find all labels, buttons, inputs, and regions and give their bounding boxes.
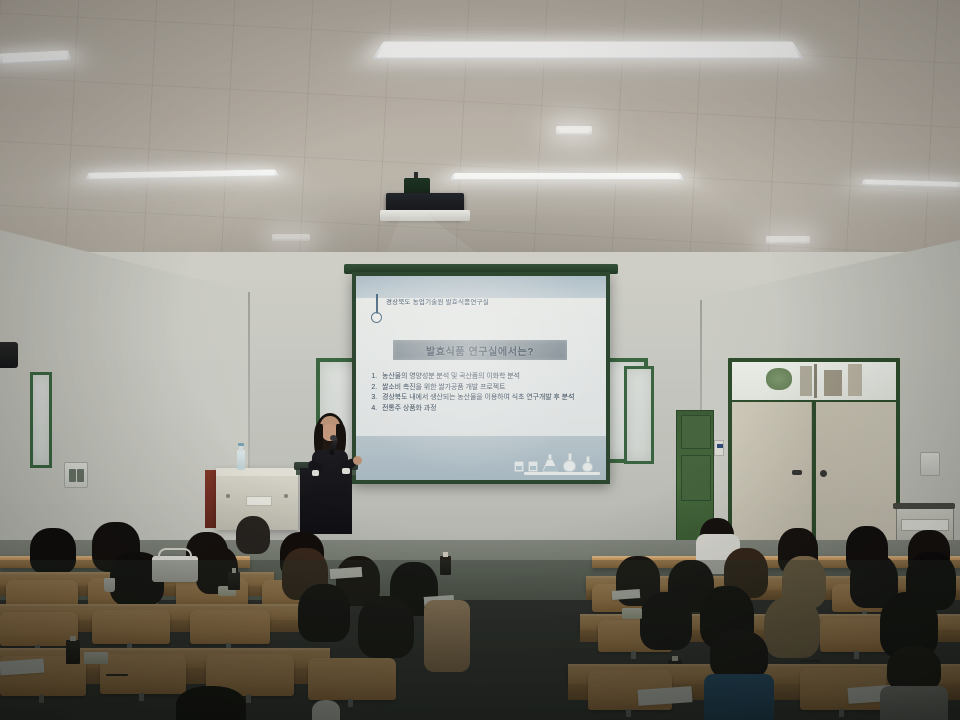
microphone-head [330, 435, 337, 441]
beverage-carton [66, 640, 80, 664]
window-view [732, 362, 896, 400]
student-head [298, 584, 350, 642]
wall-speaker [0, 342, 18, 368]
light-switch-toggle[interactable] [69, 469, 76, 482]
student [312, 700, 340, 720]
student-head [176, 686, 246, 720]
student-head [312, 700, 340, 720]
ceiling-shading [0, 0, 960, 270]
slide-title: 발효식품 연구실에서는? [426, 343, 534, 358]
round-flask-icon [562, 453, 577, 472]
student [358, 596, 414, 658]
door-handle[interactable] [792, 470, 802, 475]
fluorescent-light-fixture [372, 42, 803, 59]
list-item: 1. 농산물의 영양성분 분석 및 곡산품의 이화학 분석 [368, 372, 598, 383]
student-head [358, 596, 414, 658]
student [704, 630, 774, 720]
pen [106, 674, 128, 676]
lamp-post [814, 364, 817, 398]
projector-base-plate [380, 210, 470, 221]
fluorescent-light-fixture [556, 126, 592, 135]
building-silhouette [800, 366, 812, 396]
ceiling [0, 0, 960, 270]
light-switch-toggle[interactable] [77, 469, 84, 482]
cabinet-top [216, 468, 298, 476]
slide-top-band [356, 276, 606, 298]
list-item: 3. 경상북도 내에서 생산되는 농산물을 이용하여 식초 연구개발 후 분석 [368, 393, 598, 404]
cabinet-label [246, 496, 272, 506]
cup [104, 578, 115, 592]
cart-handle [893, 503, 955, 509]
list-item-number: 1. [368, 372, 377, 383]
partition-pane [681, 455, 711, 501]
erlenmeyer-flask-icon [542, 454, 558, 472]
beaker-icon [528, 461, 538, 472]
tree-silhouette [766, 368, 792, 390]
partition-pane [681, 415, 711, 449]
student-head [30, 528, 76, 574]
beverage-carton [440, 556, 451, 575]
list-item: 2. 쌀소비 촉진을 위한 쌀가공품 개발 프로젝트 [368, 383, 598, 394]
student-head [236, 516, 270, 554]
snack-pack [84, 652, 108, 664]
student-body [704, 674, 774, 720]
presenter-shirt-cuff [342, 468, 350, 474]
list-item-number: 2. [368, 383, 377, 394]
transom-window [732, 362, 896, 400]
student [424, 600, 470, 672]
student-head [640, 592, 692, 650]
chair[interactable] [92, 610, 170, 644]
presentation-slide: 경상북도 농업기술원 발효식품연구실 발효식품 연구실에서는? 1. 농산물의 … [356, 276, 606, 480]
slide-header-dot-icon [371, 312, 382, 323]
paper-handout [612, 589, 641, 600]
handbag [152, 556, 198, 582]
chair[interactable] [308, 658, 396, 700]
whiteboard [30, 372, 52, 468]
student-body [424, 600, 470, 672]
double-door[interactable] [728, 358, 900, 554]
list-item-text: 경상북도 내에서 생산되는 농산물을 이용하여 식초 연구개발 후 분석 [382, 393, 574, 404]
cabinet-knob[interactable] [226, 494, 230, 498]
list-item-text: 농산물의 영양성분 분석 및 곡산품의 이화학 분석 [382, 372, 520, 383]
snack-pack [622, 608, 642, 619]
slide-bullet-list: 1. 농산물의 영양성분 분석 및 곡산품의 이화학 분석 2. 쌀소비 촉진을… [368, 372, 598, 414]
fluorescent-light-fixture [766, 236, 810, 244]
round-flask-icon [581, 456, 594, 472]
student [236, 516, 270, 554]
building-silhouette [824, 370, 842, 396]
list-item: 4. 전통주 상품화 과정 [368, 404, 598, 415]
projection-screen: 경상북도 농업기술원 발효식품연구실 발효식품 연구실에서는? 1. 농산물의 … [352, 272, 610, 484]
list-item-number: 3. [368, 393, 377, 404]
fluorescent-light-fixture [450, 173, 684, 180]
student [30, 528, 76, 574]
lecture-hall-photo: 경상북도 농업기술원 발효식품연구실 발효식품 연구실에서는? 1. 농산물의 … [0, 0, 960, 720]
card-reader[interactable] [714, 440, 724, 456]
fluorescent-light-fixture [272, 234, 310, 241]
student-head [710, 630, 768, 680]
slide-title-box: 발효식품 연구실에서는? [393, 340, 567, 360]
light-switch-panel[interactable] [64, 462, 88, 488]
student [298, 584, 350, 642]
student [880, 646, 948, 720]
presenter-hand [353, 456, 362, 465]
chair[interactable] [190, 610, 270, 644]
presenter-shirt-cuff [312, 470, 319, 476]
pen [800, 660, 820, 662]
list-item-text: 쌀소비 촉진을 위한 쌀가공품 개발 프로젝트 [382, 383, 505, 394]
beaker-icon [514, 461, 524, 472]
student [176, 686, 246, 720]
cabinet-knob[interactable] [284, 494, 288, 498]
presenter [300, 416, 362, 534]
student [640, 592, 692, 650]
whiteboard [624, 366, 654, 464]
student-body [880, 686, 948, 720]
list-item-number: 4. [368, 404, 377, 415]
glassware-shelf [524, 472, 600, 475]
water-bottle [237, 450, 245, 470]
slide-header-text: 경상북도 농업기술원 발효식품연구실 [386, 296, 489, 306]
laboratory-glassware-icon [514, 453, 594, 472]
paper-handout [638, 686, 693, 706]
slide-header-line [376, 294, 378, 314]
wall-outlet [920, 452, 940, 476]
door-handle[interactable] [820, 470, 827, 477]
handbag-handle [158, 548, 191, 558]
building-silhouette [848, 364, 862, 396]
list-item-text: 전통주 상품화 과정 [382, 404, 436, 415]
beverage-carton [228, 572, 240, 590]
